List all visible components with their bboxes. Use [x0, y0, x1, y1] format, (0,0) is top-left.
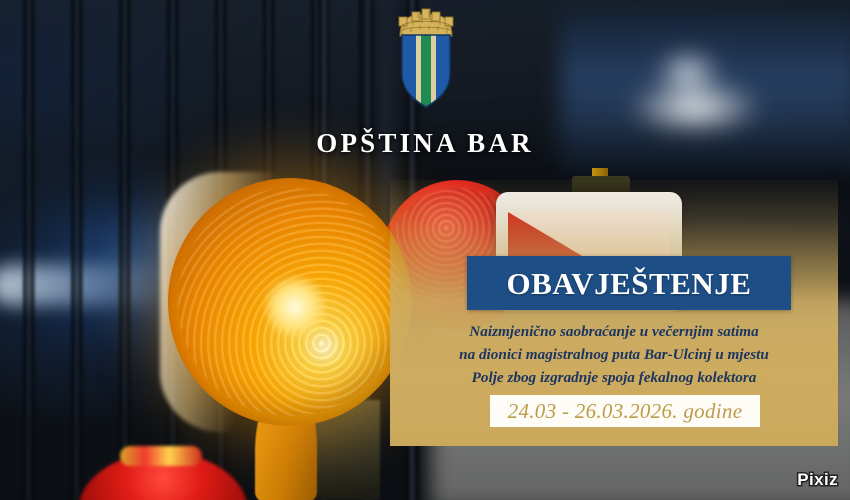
shield-icon [401, 34, 451, 108]
amber-construction-warning-lamp [168, 178, 412, 426]
pixiz-watermark: Pixiz [797, 470, 838, 490]
notice-body-line-2: na dionici magistralnog puta Bar-Ulcinj … [400, 343, 828, 366]
opstina-bar-coat-of-arms [398, 8, 454, 108]
poster: OPŠTINA BAR OBAVJEŠTENJE Naizmjenično sa… [0, 0, 850, 500]
notice-body-line-1: Naizmjenično saobraćanje u večernjim sat… [400, 320, 828, 343]
date-range-box: 24.03 - 26.03.2026. godine [490, 395, 760, 427]
notice-card: OBAVJEŠTENJE Naizmjenično saobraćanje u … [390, 180, 838, 446]
date-range-text: 24.03 - 26.03.2026. godine [508, 399, 743, 424]
page-title: OPŠTINA BAR [0, 128, 850, 159]
red-warning-lamp-bottom-cap [120, 446, 202, 466]
notice-body-line-3: Polje zbog izgradnje spoja fekalnog kole… [400, 366, 828, 389]
headline-banner: OBAVJEŠTENJE [467, 256, 791, 310]
notice-body: Naizmjenično saobraćanje u večernjim sat… [400, 320, 828, 389]
headline-text: OBAVJEŠTENJE [507, 268, 752, 299]
